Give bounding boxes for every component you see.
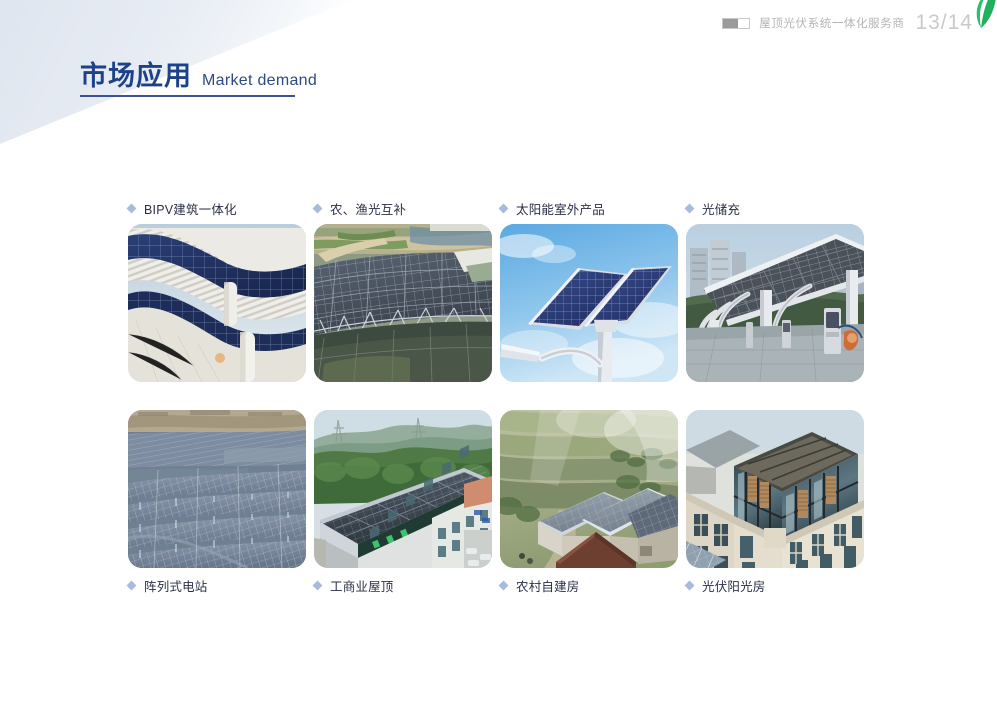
diamond-bullet-icon [499, 580, 509, 590]
diamond-bullet-icon [127, 203, 137, 213]
grid-card[interactable]: 农、渔光互补 [314, 200, 492, 382]
page-title-en: Market demand [202, 72, 317, 90]
progress-bar-icon [722, 18, 750, 29]
card-label-text: BIPV建筑一体化 [144, 199, 237, 218]
card-label: 农村自建房 [500, 577, 678, 593]
title-underline [80, 95, 295, 97]
page-title: 市场应用 Market demand [80, 62, 317, 97]
card-label: 光储充 [686, 200, 864, 216]
rural-house-rooftop-solar-photo[interactable] [500, 410, 678, 568]
grid-card[interactable]: 光伏阳光房 [686, 410, 864, 593]
card-label: BIPV建筑一体化 [128, 200, 306, 216]
grid-card[interactable]: 工商业屋顶 [314, 410, 492, 593]
card-label-text: 光储充 [702, 199, 740, 218]
card-label-text: 太阳能室外产品 [516, 199, 605, 218]
diamond-bullet-icon [685, 580, 695, 590]
commercial-industrial-rooftop-photo[interactable] [314, 410, 492, 568]
header-tagline: 屋顶光伏系统一体化服务商 [759, 15, 904, 31]
page-indicator: 13/14 [915, 11, 973, 35]
array-power-station-on-water-photo[interactable] [128, 410, 306, 568]
diamond-bullet-icon [499, 203, 509, 213]
grid-card[interactable]: 农村自建房 [500, 410, 678, 593]
card-label: 农、渔光互补 [314, 200, 492, 216]
page-title-cn: 市场应用 [80, 62, 192, 90]
diamond-bullet-icon [685, 203, 695, 213]
diamond-bullet-icon [313, 203, 323, 213]
agri-fishery-greenhouse-solar-photo[interactable] [314, 224, 492, 382]
card-label: 太阳能室外产品 [500, 200, 678, 216]
grid-row-2: 阵列式电站 [128, 410, 854, 593]
card-label: 阵列式电站 [128, 577, 306, 593]
card-label-text: 农村自建房 [516, 576, 580, 595]
diamond-bullet-icon [127, 580, 137, 590]
card-label-text: 阵列式电站 [144, 576, 208, 595]
pv-sunroom-villa-photo[interactable] [686, 410, 864, 568]
header-meta: 屋顶光伏系统一体化服务商 13/14 [722, 8, 973, 38]
card-label-text: 工商业屋顶 [330, 576, 394, 595]
slide-canvas: 屋顶光伏系统一体化服务商 13/14 市场应用 Market demand BI… [0, 0, 997, 724]
card-label: 光伏阳光房 [686, 577, 864, 593]
grid-row-1: BIPV建筑一体化 [128, 200, 854, 382]
grid-card[interactable]: 光储充 [686, 200, 864, 382]
bipv-curved-facade-photo[interactable] [128, 224, 306, 382]
application-grid: BIPV建筑一体化 [128, 200, 854, 593]
diamond-bullet-icon [313, 580, 323, 590]
card-label-text: 光伏阳光房 [702, 576, 766, 595]
solar-street-light-photo[interactable] [500, 224, 678, 382]
card-label-text: 农、渔光互补 [330, 199, 406, 218]
grid-card[interactable]: 太阳能室外产品 [500, 200, 678, 382]
card-label: 工商业屋顶 [314, 577, 492, 593]
solar-carport-ev-charging-photo[interactable] [686, 224, 864, 382]
grid-card[interactable]: BIPV建筑一体化 [128, 200, 306, 382]
grid-card[interactable]: 阵列式电站 [128, 410, 306, 593]
